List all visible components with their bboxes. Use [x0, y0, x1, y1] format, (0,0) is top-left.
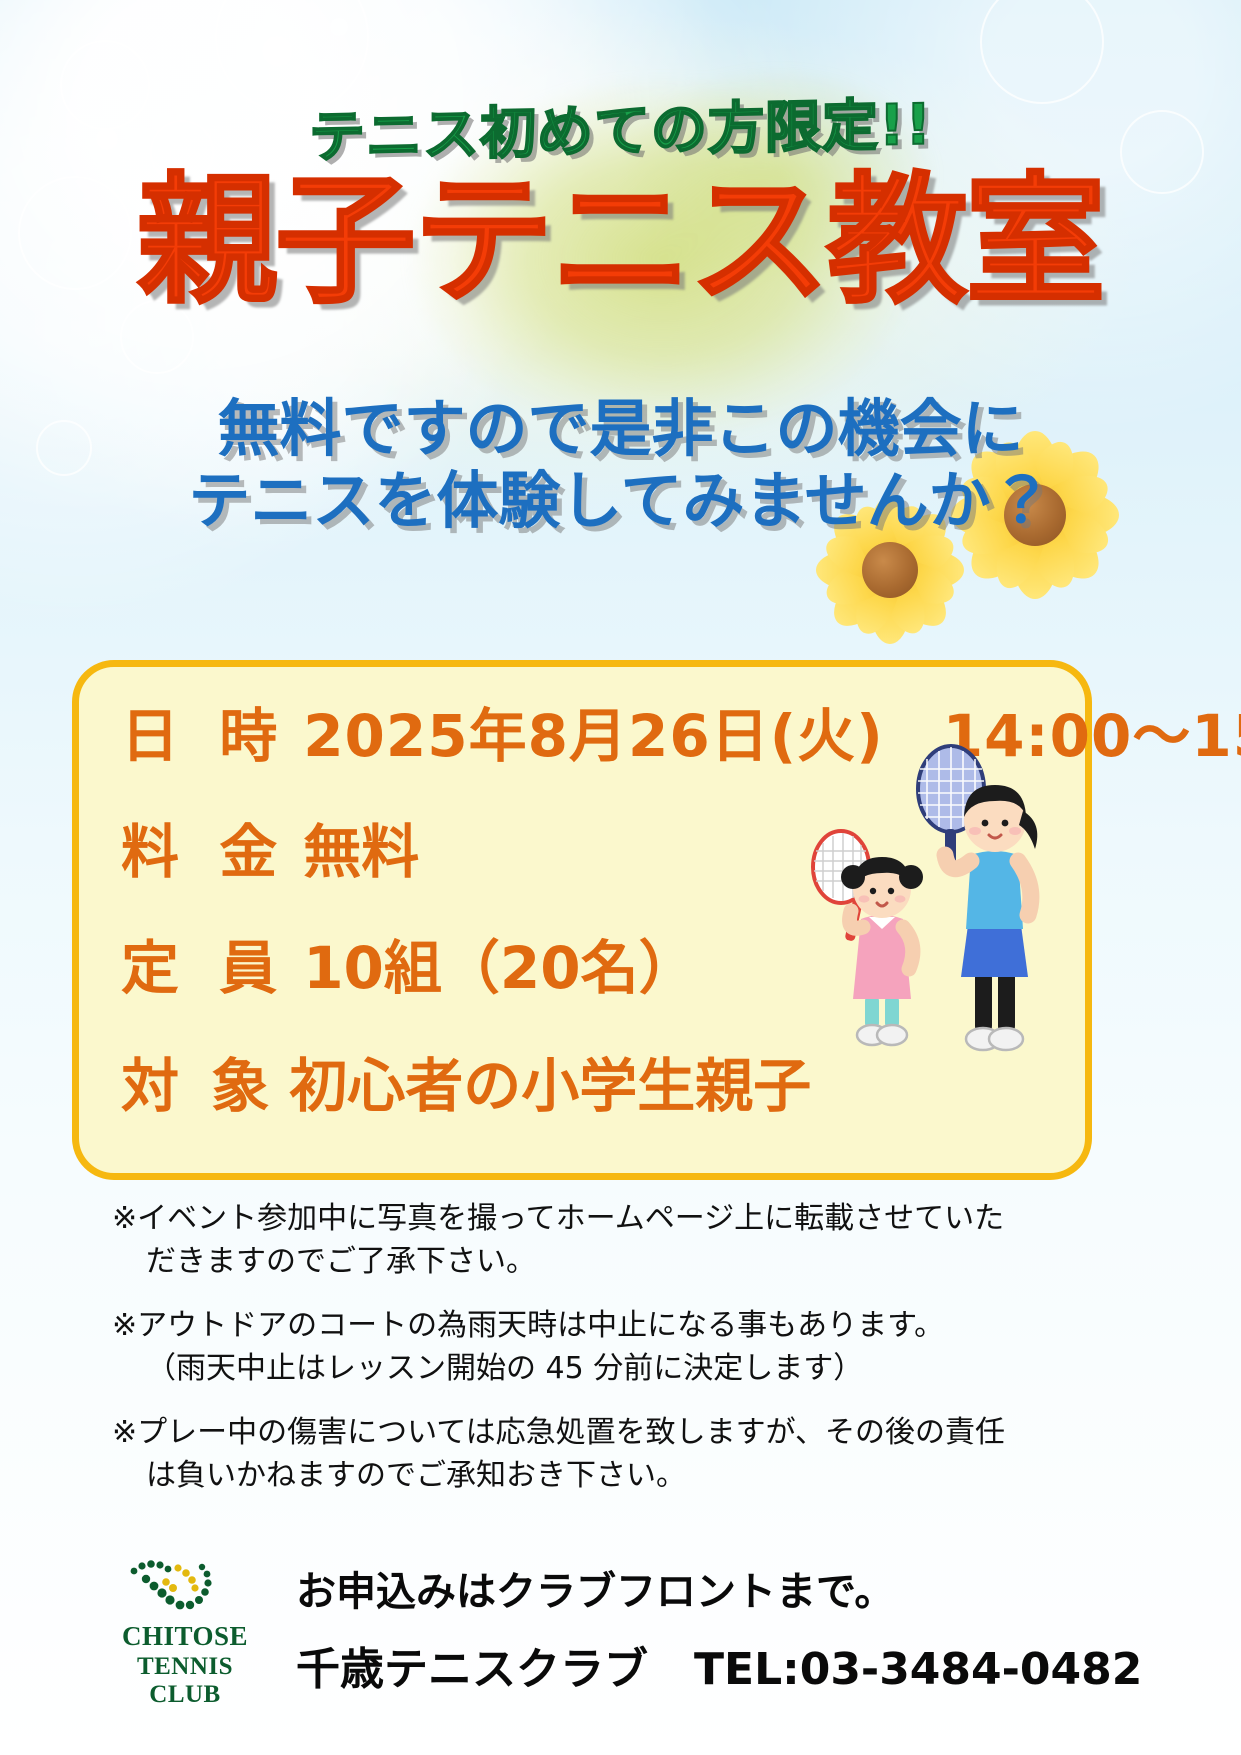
detail-label-capacity: 定 員 — [121, 934, 287, 1002]
detail-row-capacity: 定 員10組（20名） — [121, 921, 697, 1005]
notice-injury-line2: は負いかねますのでご承知おき下さい。 — [112, 1455, 1112, 1498]
logo-dots-icon — [100, 1555, 270, 1621]
detail-value-target: 初心者の小学生親子 — [289, 1052, 811, 1120]
detail-label-fee: 料 金 — [121, 818, 287, 886]
chitose-tennis-club-logo: CHITOSE TENNIS CLUB — [100, 1555, 270, 1705]
contact-apply-text: お申込みはクラブフロントまで。 — [296, 1559, 1142, 1617]
notice-injury-line1: ※プレー中の傷害については応急処置を致しますが、その後の責任 — [112, 1415, 1005, 1450]
notice-photo-line2: だきますのでご了承下さい。 — [112, 1241, 1112, 1284]
detail-label-datetime: 日 時 — [121, 702, 287, 770]
event-details-box: 日 時2025年8月26日(火) 14:00〜15:00 料 金無料 定 員10… — [72, 660, 1092, 1180]
notice-photo-line1: ※イベント参加中に写真を撮ってホームページ上に転載させていた — [112, 1201, 1004, 1236]
contact-info: お申込みはクラブフロントまで。 千歳テニスクラブTEL:03-3484-0482 — [296, 1559, 1142, 1697]
detail-row-datetime: 日 時2025年8月26日(火) 14:00〜15:00 — [121, 689, 1241, 773]
club-name: 千歳テニスクラブ — [296, 1644, 648, 1695]
logo-text-tennis-club: TENNIS CLUB — [100, 1653, 270, 1709]
logo-text-chitose: CHITOSE — [100, 1621, 270, 1652]
detail-value-capacity: 10組（20名） — [303, 934, 696, 1002]
subtitle-line-2: テニスを体験してみませんか？ — [0, 450, 1241, 540]
notice-item-weather: ※アウトドアのコートの為雨天時は中止になる事もあります。 （雨天中止はレッスン開… — [112, 1305, 1112, 1390]
notice-weather-line1: ※アウトドアのコートの為雨天時は中止になる事もあります。 — [112, 1308, 944, 1343]
notice-item-photo: ※イベント参加中に写真を撮ってホームページ上に転載させていた だきますのでご了承… — [112, 1198, 1112, 1283]
detail-row-fee: 料 金無料 — [121, 805, 419, 889]
telephone-number: TEL:03-3484-0482 — [694, 1644, 1142, 1695]
notice-weather-line2: （雨天中止はレッスン開始の 45 分前に決定します） — [112, 1348, 1112, 1391]
detail-label-target: 対 象 — [121, 1052, 275, 1120]
detail-value-fee: 無料 — [303, 818, 419, 886]
detail-value-datetime: 2025年8月26日(火) 14:00〜15:00 — [303, 702, 1241, 770]
notice-item-injury: ※プレー中の傷害については応急処置を致しますが、その後の責任 は負いかねますので… — [112, 1412, 1112, 1497]
notice-list: ※イベント参加中に写真を撮ってホームページ上に転載させていた だきますのでご了承… — [112, 1198, 1112, 1520]
detail-row-target: 対 象初心者の小学生親子 — [121, 1039, 811, 1123]
contact-club-and-tel: 千歳テニスクラブTEL:03-3484-0482 — [296, 1633, 1142, 1697]
footer: CHITOSE TENNIS CLUB お申込みはクラブフロントまで。 千歳テニ… — [100, 1555, 1160, 1715]
parent-child-illustration — [799, 737, 1059, 1067]
page-title: 親子テニス教室 — [0, 172, 1241, 312]
